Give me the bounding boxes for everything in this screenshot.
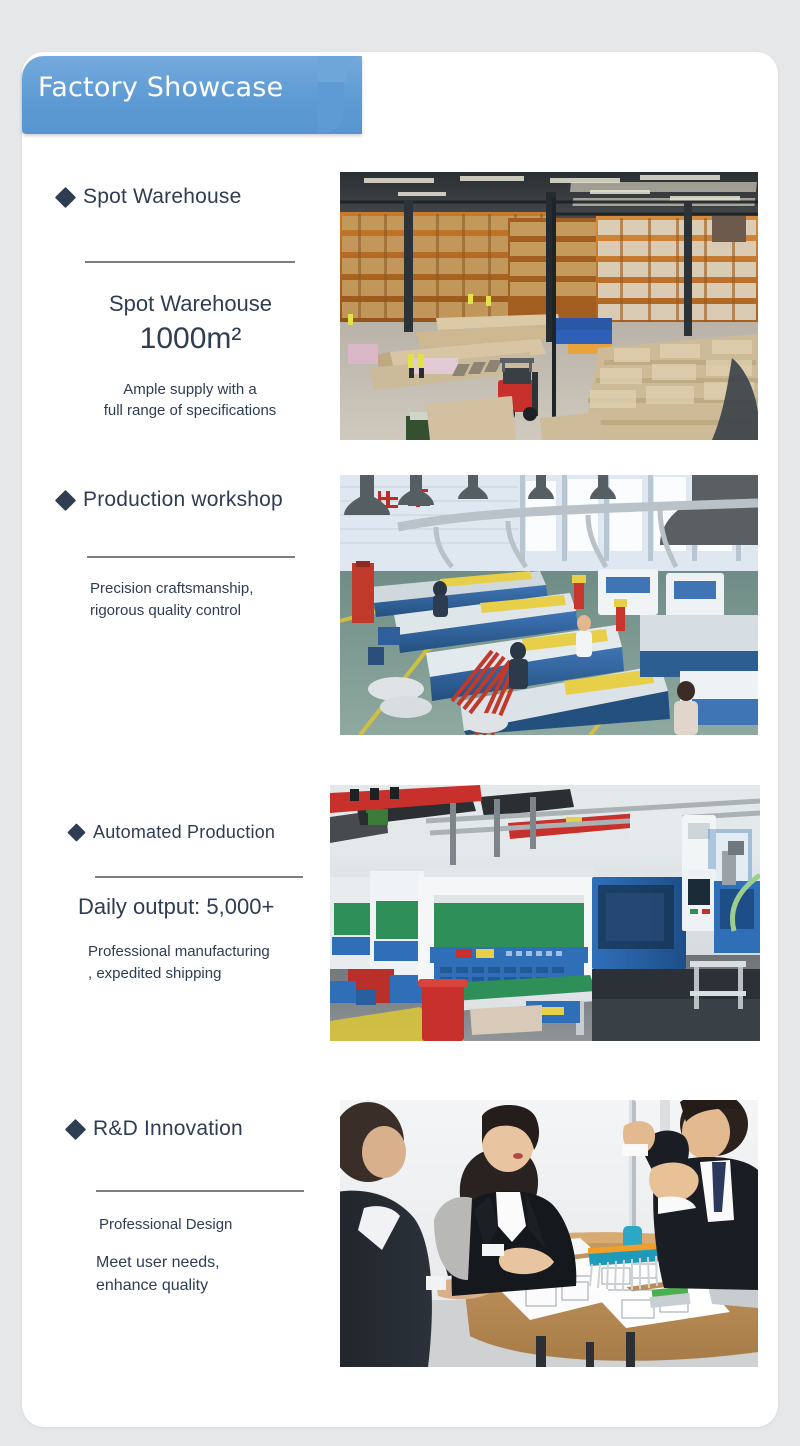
section-1-metric: 1000m² xyxy=(68,322,313,357)
section-1-headline: Spot Warehouse xyxy=(68,291,313,318)
section-2-desc-line-1: Precision craftsmanship, xyxy=(90,578,320,600)
section-3-desc-line-2: , expedited shipping xyxy=(88,963,334,985)
section-3-title: Automated Production xyxy=(70,822,275,843)
section-2-image xyxy=(340,475,758,735)
section-4-image xyxy=(340,1100,758,1367)
section-4-title-label: R&D Innovation xyxy=(93,1117,243,1141)
section-4-divider xyxy=(96,1190,304,1192)
section-2-title: Production workshop xyxy=(58,488,283,512)
section-3-desc-line-1: Professional manufacturing xyxy=(88,941,334,963)
section-4-desc-line-1: Professional Design xyxy=(99,1214,329,1236)
section-1-title-label: Spot Warehouse xyxy=(83,185,241,209)
section-3-image xyxy=(330,785,760,1041)
section-1-image xyxy=(340,172,758,440)
diamond-bullet-icon xyxy=(67,823,85,841)
factory-showcase-page: Factory Showcase Spot Warehouse Spot War… xyxy=(0,0,800,1446)
section-3-metric: Daily output: 5,000+ xyxy=(78,894,328,921)
section-4-desc-line-2: Meet user needs, xyxy=(96,1251,326,1274)
diamond-bullet-icon xyxy=(65,1118,86,1139)
section-3-title-label: Automated Production xyxy=(93,822,275,843)
section-1-title: Spot Warehouse xyxy=(58,185,241,209)
diamond-bullet-icon xyxy=(55,489,76,510)
section-1-desc-line-2: full range of specifications xyxy=(60,400,320,422)
header-tab-curve xyxy=(318,56,366,134)
section-1-divider xyxy=(85,261,295,263)
section-4-desc-line-3: enhance quality xyxy=(96,1274,326,1297)
section-3-divider xyxy=(95,876,303,878)
section-2-desc-line-2: rigorous quality control xyxy=(90,600,320,622)
section-1-desc-line-1: Ample supply with a xyxy=(60,379,320,401)
section-2-title-label: Production workshop xyxy=(83,488,283,512)
diamond-bullet-icon xyxy=(55,186,76,207)
section-4-title: R&D Innovation xyxy=(68,1117,243,1141)
page-title: Factory Showcase xyxy=(38,72,283,103)
section-2-divider xyxy=(87,556,295,558)
